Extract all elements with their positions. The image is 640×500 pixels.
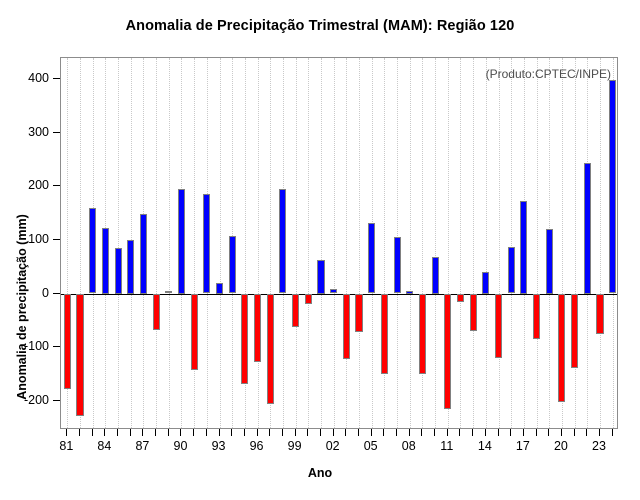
bar	[343, 294, 350, 359]
x-tick	[358, 429, 359, 436]
x-tick	[510, 429, 511, 436]
bar	[355, 294, 362, 333]
bar	[406, 291, 413, 294]
bar	[127, 240, 134, 294]
x-tick	[180, 429, 181, 436]
gridline	[460, 58, 461, 428]
x-tick	[307, 429, 308, 436]
bar	[115, 248, 122, 294]
x-axis-label: Ano	[0, 466, 640, 480]
gridline	[511, 58, 512, 428]
x-tick	[421, 429, 422, 436]
x-tick	[485, 429, 486, 436]
bar	[254, 294, 261, 363]
gridline	[169, 58, 170, 428]
bar	[444, 294, 451, 409]
bar	[419, 294, 426, 374]
x-tick	[282, 429, 283, 436]
bar	[317, 260, 324, 293]
x-tick	[79, 429, 80, 436]
x-tick	[574, 429, 575, 436]
x-tick	[142, 429, 143, 436]
x-tick-label: 14	[478, 439, 492, 453]
y-tick	[53, 239, 60, 240]
bar	[153, 294, 160, 330]
bar	[609, 80, 616, 293]
y-tick-label: 400	[28, 71, 49, 85]
bar	[596, 294, 603, 334]
y-tick	[53, 293, 60, 294]
x-tick	[447, 429, 448, 436]
x-tick	[257, 429, 258, 436]
x-tick	[472, 429, 473, 436]
bar	[508, 247, 515, 293]
x-tick	[104, 429, 105, 436]
x-tick	[536, 429, 537, 436]
x-tick-label: 84	[97, 439, 111, 453]
bar	[432, 257, 439, 294]
y-tick	[53, 132, 60, 133]
bar	[520, 201, 527, 294]
x-tick	[498, 429, 499, 436]
x-tick	[459, 429, 460, 436]
x-tick-label: 23	[592, 439, 606, 453]
x-tick-label: 05	[364, 439, 378, 453]
bar	[267, 294, 274, 404]
bar	[381, 294, 388, 374]
x-tick	[269, 429, 270, 436]
plot-area: (Produto:CPTEC/INPE)	[60, 57, 618, 429]
bar	[394, 237, 401, 293]
x-tick	[130, 429, 131, 436]
y-tick	[53, 400, 60, 401]
bar-chart: Anomalia de Precipitação Trimestral (MAM…	[0, 0, 640, 500]
x-tick-label: 11	[440, 439, 453, 453]
gridline	[499, 58, 500, 428]
bar	[140, 214, 147, 293]
gridline	[410, 58, 411, 428]
x-tick	[612, 429, 613, 436]
x-tick	[168, 429, 169, 436]
x-tick-label: 17	[516, 439, 530, 453]
x-axis: 818487909396990205081114172023	[60, 429, 618, 469]
gridline	[156, 58, 157, 428]
bar	[203, 194, 210, 294]
bar	[64, 294, 71, 390]
x-tick	[231, 429, 232, 436]
bar	[191, 294, 198, 370]
x-tick	[523, 429, 524, 436]
bar	[495, 294, 502, 358]
bar	[533, 294, 540, 340]
gridline	[486, 58, 487, 428]
gridline	[346, 58, 347, 428]
x-tick-label: 02	[326, 439, 340, 453]
x-tick	[548, 429, 549, 436]
bar	[368, 223, 375, 293]
produto-annotation: (Produto:CPTEC/INPE)	[486, 67, 611, 81]
bar	[330, 289, 337, 293]
x-tick	[66, 429, 67, 436]
gridline	[194, 58, 195, 428]
x-tick	[599, 429, 600, 436]
x-tick	[345, 429, 346, 436]
x-tick	[434, 429, 435, 436]
x-tick	[320, 429, 321, 436]
gridline	[258, 58, 259, 428]
x-tick-label: 08	[402, 439, 416, 453]
x-tick	[244, 429, 245, 436]
bar	[216, 283, 223, 294]
bar	[482, 272, 489, 293]
gridline	[575, 58, 576, 428]
x-tick-label: 87	[135, 439, 149, 453]
x-tick	[409, 429, 410, 436]
bar	[457, 294, 464, 303]
x-tick	[219, 429, 220, 436]
y-axis: 4003002001000-100-200 Anomalia de precip…	[0, 57, 60, 429]
y-tick-label: 0	[42, 286, 49, 300]
x-tick	[295, 429, 296, 436]
x-tick	[92, 429, 93, 436]
bar	[558, 294, 565, 402]
bar	[229, 236, 236, 294]
x-tick-label: 20	[554, 439, 568, 453]
bar	[76, 294, 83, 417]
gridline	[321, 58, 322, 428]
bar	[546, 229, 553, 294]
x-tick-label: 90	[174, 439, 188, 453]
x-tick	[117, 429, 118, 436]
gridline	[308, 58, 309, 428]
x-tick	[333, 429, 334, 436]
gridline	[296, 58, 297, 428]
gridline	[220, 58, 221, 428]
bar	[279, 189, 286, 293]
bar	[241, 294, 248, 385]
x-tick	[193, 429, 194, 436]
x-tick	[396, 429, 397, 436]
y-tick-label: 300	[28, 125, 49, 139]
x-tick-label: 96	[250, 439, 264, 453]
x-tick	[371, 429, 372, 436]
bar	[584, 163, 591, 293]
bar	[470, 294, 477, 331]
bar	[178, 189, 185, 294]
x-tick	[206, 429, 207, 436]
bar	[165, 291, 172, 293]
y-tick	[53, 185, 60, 186]
gridline	[537, 58, 538, 428]
y-tick-label: 200	[28, 178, 49, 192]
bar	[571, 294, 578, 369]
x-tick-label: 81	[59, 439, 73, 453]
bar	[305, 294, 312, 305]
y-tick	[53, 78, 60, 79]
x-tick-label: 93	[212, 439, 226, 453]
gridline	[435, 58, 436, 428]
page-title: Anomalia de Precipitação Trimestral (MAM…	[0, 18, 640, 34]
bar	[292, 294, 299, 327]
bar	[102, 228, 109, 293]
x-tick	[155, 429, 156, 436]
gridline	[118, 58, 119, 428]
gridline	[473, 58, 474, 428]
gridline	[600, 58, 601, 428]
x-tick	[586, 429, 587, 436]
x-tick	[383, 429, 384, 436]
y-axis-label: Anomalia de precipitação (mm)	[15, 137, 29, 477]
y-tick	[53, 346, 60, 347]
y-tick-label: 100	[28, 232, 49, 246]
gridline	[359, 58, 360, 428]
bar	[89, 208, 96, 294]
gridline	[334, 58, 335, 428]
x-tick-label: 99	[288, 439, 302, 453]
x-tick	[561, 429, 562, 436]
